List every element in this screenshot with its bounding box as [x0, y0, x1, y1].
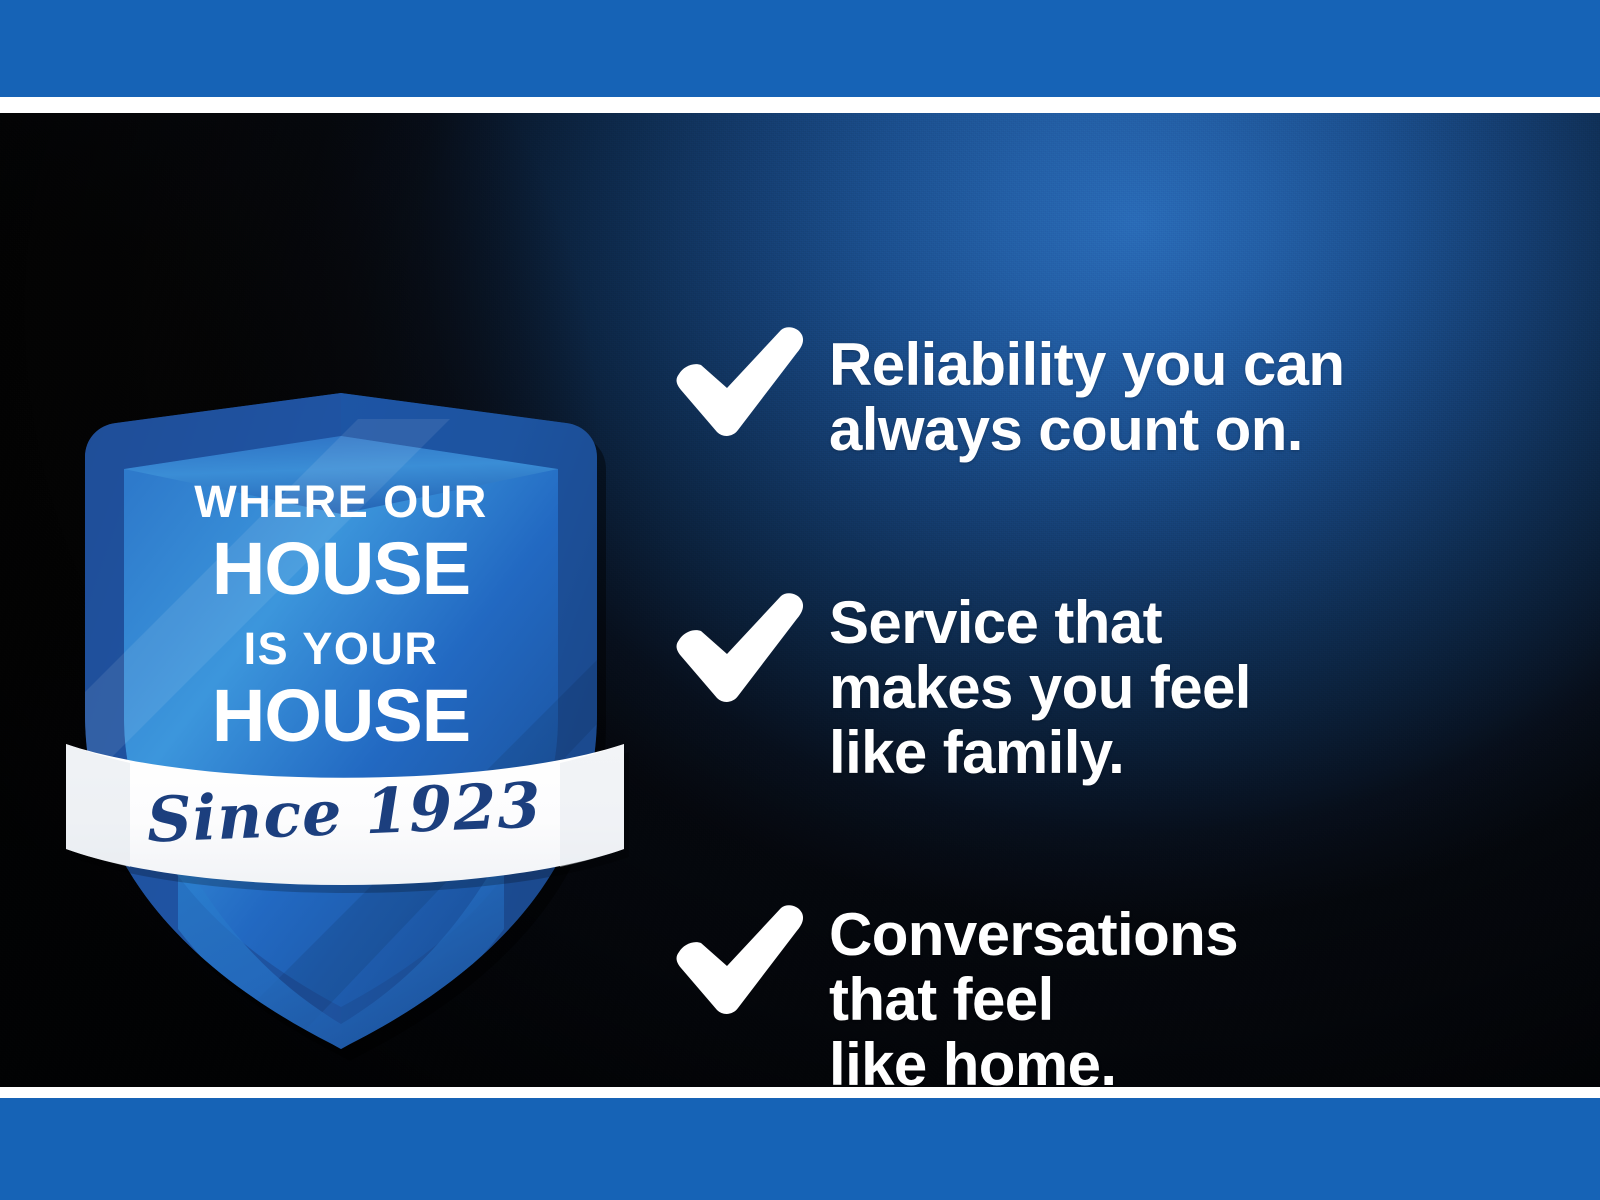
banner-fold-left [66, 744, 130, 867]
benefit-text: Reliability you can always count on. [829, 324, 1344, 462]
shield-emblem: WHERE OUR HOUSE IS YOUR HOUSE Since 1923 [58, 289, 633, 1079]
bottom-brand-band [0, 1098, 1600, 1200]
benefit-item-conversations: Conversations that feel like home. [665, 902, 1238, 1087]
shield-line-2: HOUSE [212, 527, 470, 610]
main-stage: WHERE OUR HOUSE IS YOUR HOUSE Since 1923 [0, 113, 1600, 1087]
check-icon [665, 902, 815, 1027]
check-icon [665, 590, 815, 715]
since-year-label: Since 1923 [146, 768, 543, 856]
top-brand-band [0, 0, 1600, 97]
shield-line-3: IS YOUR [244, 623, 439, 674]
benefit-text: Conversations that feel like home. [829, 902, 1238, 1087]
benefit-item-reliability: Reliability you can always count on. [665, 324, 1344, 462]
check-icon [665, 324, 815, 449]
promo-graphic-canvas: WHERE OUR HOUSE IS YOUR HOUSE Since 1923 [0, 0, 1600, 1200]
banner-fold-right [560, 744, 624, 867]
shield-line-1: WHERE OUR [194, 476, 488, 527]
benefit-text: Service that makes you feel like family. [829, 590, 1251, 785]
shield-line-4: HOUSE [212, 674, 470, 757]
benefit-item-service: Service that makes you feel like family. [665, 590, 1251, 785]
